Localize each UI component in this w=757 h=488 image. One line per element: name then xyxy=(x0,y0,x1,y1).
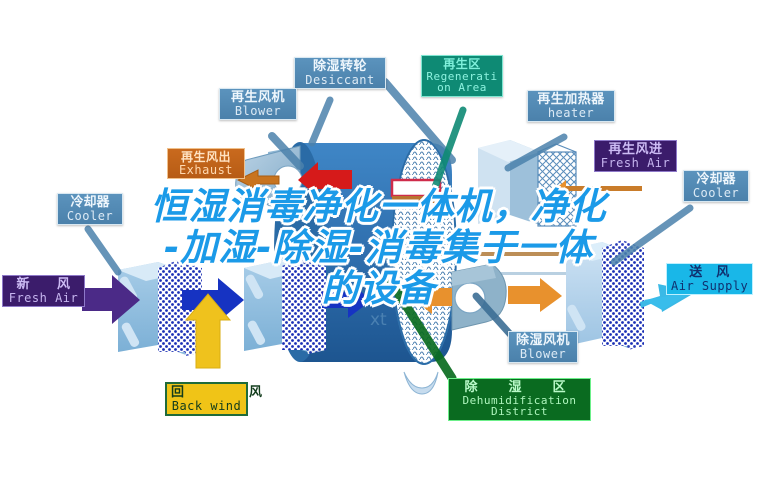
svg-text:xt: xt xyxy=(370,310,387,330)
label-air-supply-en: Air Supply xyxy=(671,280,748,293)
label-back-wind[interactable]: 回 风 Back wind xyxy=(165,382,248,416)
supply-arrow-orange-2 xyxy=(508,278,562,312)
label-cooler-right[interactable]: 冷却器 Cooler xyxy=(683,170,749,202)
label-regeneration-heater-en: heater xyxy=(532,107,610,120)
label-fresh-air-right-cn: 再生风进 xyxy=(599,143,672,157)
label-fresh-air-right[interactable]: 再生风进 Fresh Air xyxy=(594,140,677,172)
label-regeneration-area-cn: 再生区 xyxy=(426,58,498,71)
label-dehumidification-blower-en: Blower xyxy=(513,348,573,361)
label-dehumidification-district-en2: District xyxy=(453,406,586,418)
label-regeneration-exhaust[interactable]: 再生风出 Exhaust xyxy=(167,148,245,179)
label-fresh-air-right-en: Fresh Air xyxy=(599,157,672,170)
label-dehumidification-district[interactable]: 除 湿 区 Dehumidification District xyxy=(448,378,591,421)
regeneration-heater-graphic xyxy=(478,140,576,226)
label-cooler-left-en: Cooler xyxy=(62,210,118,223)
label-fresh-air-left-cn: 新 风 xyxy=(7,278,80,292)
label-back-wind-cn: 回 风 xyxy=(171,386,242,400)
label-regeneration-exhaust-cn: 再生风出 xyxy=(172,151,240,164)
label-fresh-air-left-en: Fresh Air xyxy=(7,292,80,305)
label-regeneration-blower[interactable]: 再生风机 Blower xyxy=(219,88,297,120)
cooler-mid-graphic xyxy=(244,258,326,354)
label-desiccant-wheel[interactable]: 除湿转轮 Desiccant xyxy=(294,57,386,89)
label-regeneration-blower-en: Blower xyxy=(224,105,292,118)
label-cooler-left-cn: 冷却器 xyxy=(62,196,118,210)
label-desiccant-wheel-cn: 除湿转轮 xyxy=(299,60,381,74)
label-cooler-right-en: Cooler xyxy=(688,187,744,200)
label-air-supply-cn: 送 风 xyxy=(671,266,748,280)
label-desiccant-wheel-en: Desiccant xyxy=(299,74,381,87)
label-cooler-right-cn: 冷却器 xyxy=(688,173,744,187)
label-fresh-air-left[interactable]: 新 风 Fresh Air xyxy=(2,275,85,307)
label-regeneration-heater-cn: 再生加热器 xyxy=(532,93,610,107)
diagram-canvas: xt xyxy=(0,0,757,488)
label-regeneration-area[interactable]: 再生区 Regenerati on Area xyxy=(421,55,503,97)
label-cooler-left[interactable]: 冷却器 Cooler xyxy=(57,193,123,225)
label-regeneration-exhaust-en: Exhaust xyxy=(172,164,240,177)
label-back-wind-en: Back wind xyxy=(171,400,242,413)
label-dehumidification-blower[interactable]: 除湿风机 Blower xyxy=(508,331,578,363)
label-regeneration-heater[interactable]: 再生加热器 heater xyxy=(527,90,615,122)
label-regeneration-blower-cn: 再生风机 xyxy=(224,91,292,105)
label-air-supply[interactable]: 送 风 Air Supply xyxy=(666,263,753,295)
label-regeneration-area-en2: on Area xyxy=(426,82,498,94)
label-dehumidification-district-cn: 除 湿 区 xyxy=(453,381,586,395)
label-dehumidification-blower-cn: 除湿风机 xyxy=(513,334,573,348)
